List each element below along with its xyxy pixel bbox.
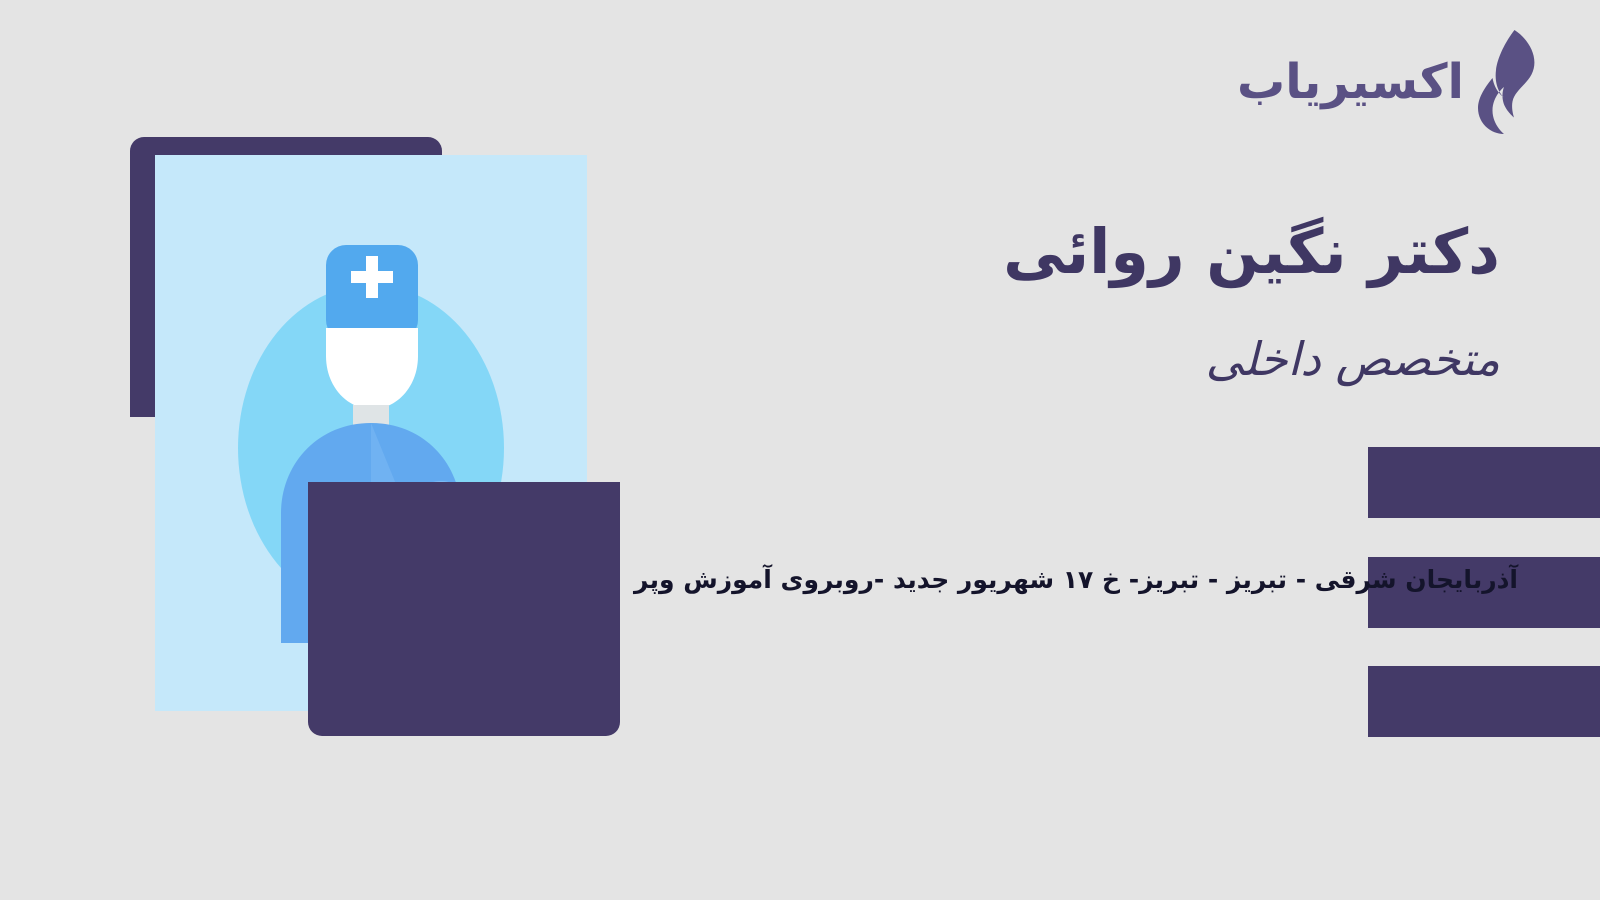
flame-drop-icon (1478, 30, 1540, 134)
brand-logo[interactable]: اکسیریاب (1237, 30, 1540, 134)
decor-stripe-3 (1368, 666, 1600, 737)
frame-accent-front (308, 482, 620, 736)
photo-frame-group (0, 0, 660, 760)
doctor-name: دکتر نگین روائی (1003, 218, 1500, 286)
doctor-specialty: متخصص داخلی (1206, 332, 1500, 387)
profile-card-canvas: اکسیریاب دکتر نگین روائی متخصص داخلی آذر… (0, 0, 1600, 900)
decor-stripe-1 (1368, 447, 1600, 518)
brand-name: اکسیریاب (1237, 58, 1464, 106)
doctor-address: آذربایجان شرقی - تبریز - تبریز- خ ۱۷ شهر… (618, 563, 1518, 597)
